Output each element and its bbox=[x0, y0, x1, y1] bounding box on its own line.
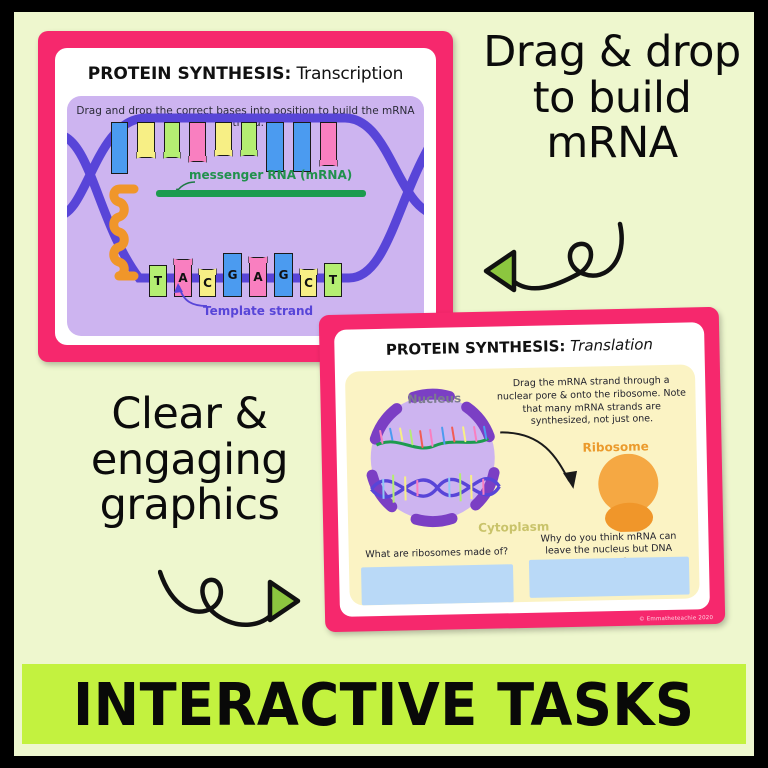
curly-arrow-left-pointing-icon bbox=[478, 212, 628, 312]
nucleus-label: Nucleus bbox=[407, 391, 461, 406]
base-tile[interactable] bbox=[215, 122, 232, 156]
base-tile[interactable] bbox=[111, 122, 128, 174]
nucleus-to-ribosome-arrow-icon bbox=[498, 429, 589, 501]
rna-polymerase-icon bbox=[107, 184, 139, 282]
base-tile[interactable]: G bbox=[223, 253, 242, 297]
translation-instruction: Drag the mRNA strand through a nuclear p… bbox=[495, 375, 688, 430]
base-tile[interactable] bbox=[164, 122, 180, 158]
base-tile[interactable]: A bbox=[249, 257, 267, 297]
base-tile[interactable]: T bbox=[149, 265, 167, 297]
promo-text-drag-drop: Drag & drop to build mRNA bbox=[462, 30, 762, 167]
card-transcription-body: PROTEIN SYNTHESIS: Transcription Drag an… bbox=[55, 48, 436, 345]
base-tile[interactable]: C bbox=[300, 269, 317, 297]
template-strand-label: Template strand bbox=[203, 304, 313, 318]
answer-box-2[interactable] bbox=[529, 557, 690, 598]
base-tile[interactable] bbox=[293, 122, 311, 172]
title-bold-part: PROTEIN SYNTHESIS: bbox=[88, 64, 292, 84]
interactive-tasks-banner: INTERACTIVE TASKS bbox=[22, 664, 746, 744]
copyright-notice: © Emmatheteachie 2020 bbox=[639, 615, 713, 623]
cytoplasm-label: Cytoplasm bbox=[478, 519, 549, 534]
question-1-text: What are ribosomes made of? bbox=[361, 546, 513, 562]
base-tile[interactable] bbox=[241, 122, 257, 156]
title-rest-part: Transcription bbox=[291, 64, 403, 84]
title-bold-part-2: PROTEIN SYNTHESIS: bbox=[386, 337, 566, 359]
ribosome-graphic bbox=[585, 453, 673, 533]
ribosome-label: Ribosome bbox=[582, 439, 648, 454]
card-transcription-title: PROTEIN SYNTHESIS: Transcription bbox=[55, 64, 436, 84]
answer-box-1[interactable] bbox=[361, 564, 514, 605]
card-translation-title: PROTEIN SYNTHESIS: Translation bbox=[334, 334, 704, 360]
base-tile[interactable] bbox=[266, 122, 284, 172]
card-transcription[interactable]: PROTEIN SYNTHESIS: Transcription Drag an… bbox=[38, 31, 453, 362]
base-tile[interactable]: T bbox=[324, 263, 342, 297]
promo-text-clear-engaging: Clear & engaging graphics bbox=[52, 392, 327, 529]
base-tile[interactable]: G bbox=[274, 253, 293, 297]
banner-label: INTERACTIVE TASKS bbox=[73, 670, 694, 739]
title-rest-part-2: Translation bbox=[565, 335, 653, 355]
free-bases-row[interactable] bbox=[111, 122, 337, 174]
translation-diagram-panel: Drag the mRNA strand through a nuclear p… bbox=[345, 364, 700, 605]
card-translation[interactable]: PROTEIN SYNTHESIS: Translation Drag the … bbox=[319, 307, 726, 632]
base-tile[interactable] bbox=[320, 122, 337, 166]
base-tile[interactable] bbox=[189, 122, 206, 162]
mrna-label: messenger RNA (mRNA) bbox=[189, 168, 352, 182]
poster-stage: Drag & drop to build mRNA Clear & engagi… bbox=[0, 0, 768, 768]
mrna-strand-bar[interactable] bbox=[156, 190, 366, 197]
base-tile[interactable] bbox=[137, 122, 155, 158]
curly-arrow-right-pointing-icon bbox=[158, 552, 308, 640]
card-translation-body: PROTEIN SYNTHESIS: Translation Drag the … bbox=[334, 322, 710, 617]
transcription-diagram-panel: Drag and drop the correct bases into pos… bbox=[67, 96, 424, 336]
